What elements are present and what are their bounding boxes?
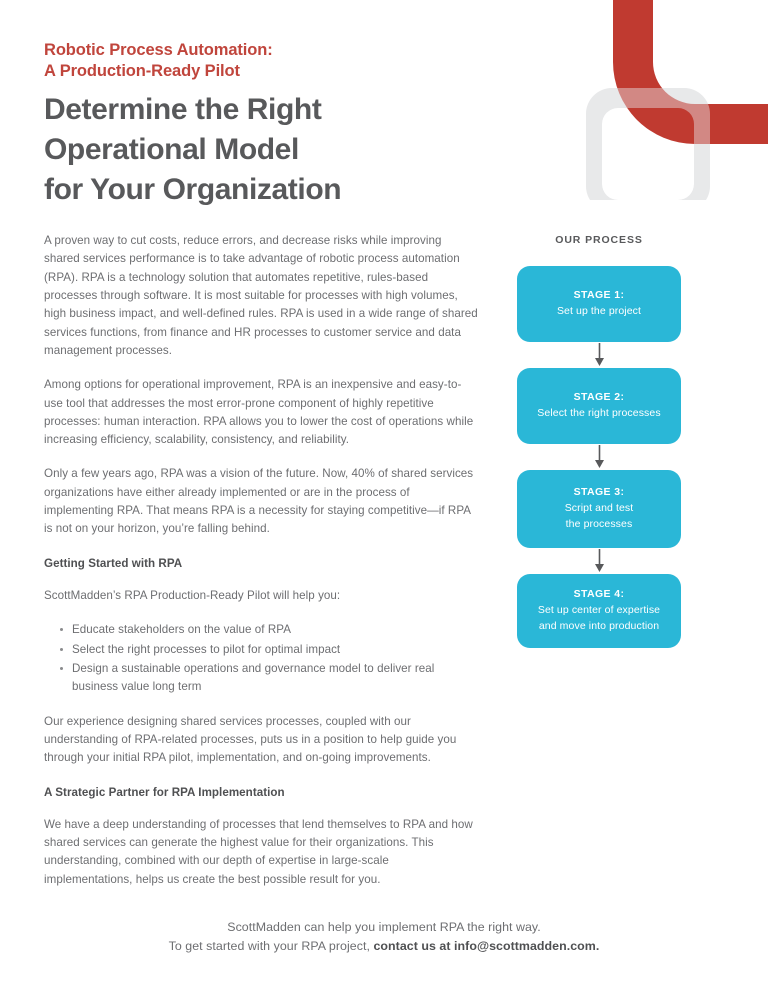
process-stage-3: STAGE 3: Script and test the processes <box>517 470 681 548</box>
stage-2-description: Select the right processes <box>537 406 660 421</box>
arrow-down-icon <box>594 445 605 469</box>
stage-4-label: STAGE 4: <box>574 588 625 600</box>
stage-3-description-line-2: the processes <box>566 517 633 532</box>
arrow-stage-1-to-2 <box>517 342 681 368</box>
process-stage-4: STAGE 4: Set up center of expertise and … <box>517 574 681 648</box>
stage-4-description-line-1: Set up center of expertise <box>538 603 660 618</box>
paragraph-options: Among options for operational improvemen… <box>44 376 478 449</box>
headline-line-1: Determine the Right <box>44 90 464 130</box>
arrow-stage-3-to-4 <box>517 548 681 574</box>
list-item: Select the right processes to pilot for … <box>72 641 478 659</box>
footer-line-1: ScottMadden can help you implement RPA t… <box>0 918 768 937</box>
stage-3-label: STAGE 3: <box>574 486 625 498</box>
footer-line-2: To get started with your RPA project, co… <box>0 937 768 956</box>
stage-1-label: STAGE 1: <box>574 289 625 301</box>
corner-decoration-graphic <box>568 0 768 200</box>
footer-cta-plain: To get started with your RPA project, <box>169 939 374 953</box>
page-header: Robotic Process Automation: A Production… <box>44 40 464 210</box>
process-stage-2: STAGE 2: Select the right processes <box>517 368 681 444</box>
paragraph-pilot-intro: ScottMadden’s RPA Production-Ready Pilot… <box>44 587 478 605</box>
paragraph-understanding: We have a deep understanding of processe… <box>44 816 478 889</box>
process-stage-1: STAGE 1: Set up the project <box>517 266 681 342</box>
arrow-down-icon <box>594 343 605 367</box>
eyebrow-line-1: Robotic Process Automation: <box>44 41 273 59</box>
eyebrow-title: Robotic Process Automation: A Production… <box>44 40 464 82</box>
document-page: Robotic Process Automation: A Production… <box>0 0 768 994</box>
process-title: OUR PROCESS <box>517 234 681 246</box>
stage-2-label: STAGE 2: <box>574 391 625 403</box>
gray-rounded-square-ring <box>586 88 710 200</box>
page-footer: ScottMadden can help you implement RPA t… <box>0 918 768 955</box>
footer-contact-email: contact us at info@scottmadden.com. <box>373 939 599 953</box>
list-item: Design a sustainable operations and gove… <box>72 660 478 697</box>
stage-3-description-line-1: Script and test <box>565 501 634 516</box>
arrow-stage-2-to-3 <box>517 444 681 470</box>
subheading-getting-started: Getting Started with RPA <box>44 555 478 573</box>
red-elbow-shape <box>613 0 768 144</box>
process-flow-diagram: OUR PROCESS STAGE 1: Set up the project … <box>517 234 681 648</box>
arrow-down-icon <box>594 549 605 573</box>
stage-4-description-line-2: and move into production <box>539 619 659 634</box>
paragraph-adoption: Only a few years ago, RPA was a vision o… <box>44 465 478 538</box>
benefits-bullet-list: Educate stakeholders on the value of RPA… <box>44 621 478 696</box>
subheading-strategic-partner: A Strategic Partner for RPA Implementati… <box>44 784 478 802</box>
eyebrow-line-2: A Production-Ready Pilot <box>44 61 464 82</box>
stage-1-description: Set up the project <box>557 304 641 319</box>
headline-line-2: Operational Model <box>44 130 464 170</box>
list-item: Educate stakeholders on the value of RPA <box>72 621 478 639</box>
paragraph-experience: Our experience designing shared services… <box>44 713 478 768</box>
gray-overlay-blend <box>586 88 710 200</box>
body-content-column: A proven way to cut costs, reduce errors… <box>44 232 478 905</box>
page-title: Determine the Right Operational Model fo… <box>44 90 464 210</box>
headline-line-3: for Your Organization <box>44 170 464 210</box>
paragraph-intro: A proven way to cut costs, reduce errors… <box>44 232 478 360</box>
